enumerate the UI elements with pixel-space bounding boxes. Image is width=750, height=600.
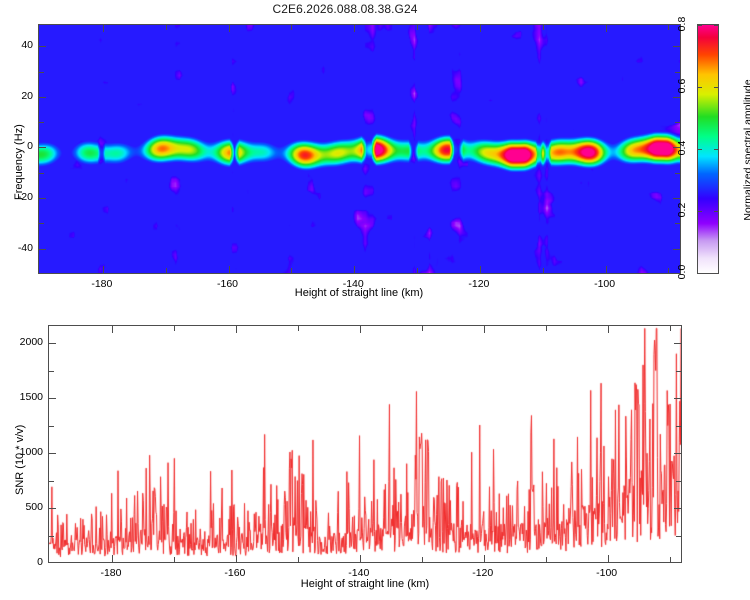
snr-xtick <box>112 555 113 562</box>
spectrogram-ytick-minor <box>39 173 44 174</box>
snr-ytick-minor <box>49 481 54 482</box>
colorbar-tick <box>697 149 702 150</box>
colorbar-tick-label: 0.6 <box>676 75 688 97</box>
colorbar-tick-right <box>714 149 719 150</box>
spectrogram-xtick <box>229 266 230 273</box>
snr-ytick <box>49 453 56 454</box>
snr-ytick-minor <box>49 426 54 427</box>
spectrogram-xtick-minor <box>417 268 418 273</box>
spectrogram-xtick-minor <box>543 268 544 273</box>
snr-xtick-label: -180 <box>100 567 121 579</box>
snr-xtick-minor <box>546 557 547 562</box>
snr-plot-area <box>48 325 682 563</box>
snr-ytick-right <box>674 508 681 509</box>
snr-xtick-top <box>484 326 485 333</box>
spectrogram-xtick-minor <box>166 268 167 273</box>
snr-ytick-minor <box>49 536 54 537</box>
spectrogram-ytick-minor <box>39 72 44 73</box>
spectrogram-ytick-minor-right <box>675 173 680 174</box>
snr-xtick-minor-top <box>298 326 299 331</box>
spectrogram-xtick <box>354 266 355 273</box>
snr-xtick-label: -120 <box>472 567 493 579</box>
spectrogram-ytick <box>39 198 46 199</box>
snr-ytick-label: 500 <box>0 501 43 513</box>
spectrogram-xtick-minor-top <box>417 25 418 30</box>
colorbar-tick-right <box>714 87 719 88</box>
snr-xtick <box>608 555 609 562</box>
spectrogram-xtick-top <box>103 25 104 32</box>
snr-xtick <box>236 555 237 562</box>
snr-xtick-top <box>608 326 609 333</box>
spectrogram-yaxis-title: Frequency (Hz) <box>13 124 25 200</box>
snr-ytick <box>49 343 56 344</box>
snr-xtick-top <box>236 326 237 333</box>
spectrogram-ytick-minor <box>39 122 44 123</box>
spectrogram-xtick-minor-top <box>291 25 292 30</box>
snr-ytick-right <box>674 398 681 399</box>
snr-ytick-minor <box>49 371 54 372</box>
spectrogram-xaxis-title: Height of straight line (km) <box>295 287 423 299</box>
spectrogram-plot-area <box>38 24 681 274</box>
spectrogram-xtick-label: -100 <box>594 278 615 290</box>
spectrogram-xtick-top <box>606 25 607 32</box>
spectrogram-ytick-minor-right <box>675 122 680 123</box>
spectrogram-xtick-top <box>480 25 481 32</box>
spectrogram-xtick-minor-top <box>166 25 167 30</box>
snr-ytick-minor-right <box>676 371 681 372</box>
colorbar <box>697 24 719 274</box>
snr-xtick-top <box>112 326 113 333</box>
spectrogram-ytick-minor <box>39 223 44 224</box>
snr-xtick-label: -100 <box>596 567 617 579</box>
spectrogram-xtick-top <box>354 25 355 32</box>
colorbar-tick <box>697 273 702 274</box>
colorbar-title: Normalized spectral amplitude <box>742 79 750 220</box>
snr-xtick-minor-top <box>422 326 423 331</box>
colorbar-tick-right <box>714 25 719 26</box>
snr-ytick-right <box>674 453 681 454</box>
snr-xtick-label: -160 <box>224 567 245 579</box>
spectrogram-ytick-label: -40 <box>0 242 33 254</box>
snr-xtick-minor-top <box>670 326 671 331</box>
colorbar-tick <box>697 211 702 212</box>
colorbar-tick-right <box>714 273 719 274</box>
spectrogram-xtick-top <box>229 25 230 32</box>
page-title: C2E6.2026.088.08.38.G24 <box>0 2 690 16</box>
spectrogram-ytick <box>39 147 46 148</box>
snr-xtick-minor <box>670 557 671 562</box>
colorbar-tick <box>697 87 702 88</box>
spectrogram-xtick <box>103 266 104 273</box>
colorbar-tick-label: 0.4 <box>676 137 688 159</box>
spectrogram-ytick-minor-right <box>675 72 680 73</box>
snr-ytick-minor-right <box>676 481 681 482</box>
snr-yaxis-title: SNR (10 * v/v) <box>14 425 26 495</box>
snr-canvas <box>49 326 681 562</box>
spectrogram-xtick-label: -180 <box>91 278 112 290</box>
spectrogram-xtick-minor <box>291 268 292 273</box>
snr-xtick-top <box>360 326 361 333</box>
colorbar-tick-label: 0.8 <box>676 13 688 35</box>
snr-xtick-minor <box>298 557 299 562</box>
snr-ytick-label: 0 <box>0 556 43 568</box>
snr-xtick <box>360 555 361 562</box>
snr-ytick-label: 2000 <box>0 336 43 348</box>
colorbar-tick-label: 0.2 <box>676 199 688 221</box>
spectrogram-ytick-minor-right <box>675 223 680 224</box>
spectrogram-ytick-right <box>673 46 680 47</box>
colorbar-tick-right <box>714 211 719 212</box>
snr-xtick-minor-top <box>174 326 175 331</box>
snr-ytick-right <box>674 343 681 344</box>
spectrogram-xtick-label: -160 <box>217 278 238 290</box>
figure-root: C2E6.2026.088.08.38.G24 -180-160-140-120… <box>0 0 750 600</box>
spectrogram-xtick <box>606 266 607 273</box>
spectrogram-ytick <box>39 97 46 98</box>
spectrogram-xtick <box>480 266 481 273</box>
spectrogram-xtick-minor <box>668 268 669 273</box>
spectrogram-ytick <box>39 46 46 47</box>
spectrogram-ytick-right <box>673 249 680 250</box>
spectrogram-xtick-minor-top <box>668 25 669 30</box>
snr-ytick-minor-right <box>676 426 681 427</box>
snr-ytick-minor-right <box>676 536 681 537</box>
spectrogram-xtick-minor-top <box>543 25 544 30</box>
spectrogram-xtick-label: -120 <box>468 278 489 290</box>
snr-ytick-label: 1500 <box>0 391 43 403</box>
snr-xtick-minor <box>174 557 175 562</box>
snr-xaxis-title: Height of straight line (km) <box>301 578 429 590</box>
snr-ytick <box>49 398 56 399</box>
spectrogram-ytick-label: 40 <box>0 39 33 51</box>
colorbar-tick-label: 0.0 <box>676 261 688 283</box>
snr-xtick <box>484 555 485 562</box>
colorbar-tick <box>697 25 702 26</box>
spectrogram-canvas <box>39 25 680 273</box>
snr-ytick <box>49 508 56 509</box>
spectrogram-ytick <box>39 249 46 250</box>
snr-xtick-minor-top <box>546 326 547 331</box>
spectrogram-ytick-label: 20 <box>0 90 33 102</box>
snr-xtick-minor <box>422 557 423 562</box>
